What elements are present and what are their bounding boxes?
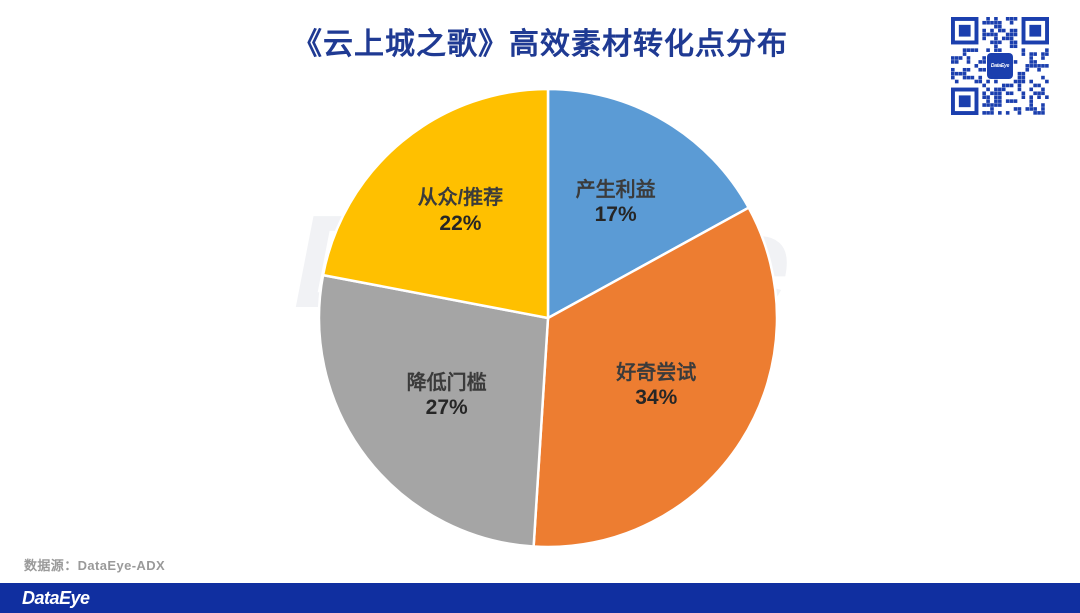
qr-module [990, 91, 994, 95]
qr-module [1018, 80, 1022, 84]
qr-module [1010, 21, 1014, 25]
qr-module [990, 29, 994, 33]
qr-module [1029, 60, 1033, 64]
qr-module [990, 33, 994, 37]
qr-module [1014, 29, 1018, 33]
qr-module [1022, 52, 1026, 56]
qr-module [1041, 107, 1045, 111]
qr-module [1022, 80, 1026, 84]
qr-module [998, 88, 1002, 92]
qr-module [994, 37, 998, 41]
qr-module [1029, 103, 1033, 107]
qr-module [951, 56, 955, 60]
qr-module [971, 48, 975, 52]
qr-module [1014, 80, 1018, 84]
qr-module [1006, 33, 1010, 37]
qr-module [1029, 52, 1033, 56]
qr-module [1018, 76, 1022, 80]
qr-module [990, 111, 994, 115]
qr-module [990, 103, 994, 107]
qr-module [951, 76, 955, 80]
qr-module [975, 48, 979, 52]
qr-module [1014, 17, 1018, 21]
qr-module [994, 88, 998, 92]
qr-module [1025, 64, 1029, 68]
pie-chart-svg [318, 88, 778, 548]
qr-module [1022, 48, 1026, 52]
qr-module [1010, 84, 1014, 88]
qr-module [1029, 95, 1033, 99]
qr-module [982, 37, 986, 41]
qr-module [1041, 52, 1045, 56]
qr-module [1033, 52, 1037, 56]
qr-module [986, 21, 990, 25]
qr-module [982, 60, 986, 64]
slide-canvas: 《云上城之歌》高效素材转化点分布 DataEye 产生利益17%好奇尝试34%降… [0, 0, 1080, 613]
qr-module [1022, 95, 1026, 99]
qr-module [982, 95, 986, 99]
qr-module [1033, 64, 1037, 68]
qr-module [1029, 99, 1033, 103]
qr-module [1014, 107, 1018, 111]
qr-module [967, 60, 971, 64]
qr-module [1014, 44, 1018, 48]
qr-module [1045, 52, 1049, 56]
qr-module [982, 103, 986, 107]
qr-module [994, 91, 998, 95]
qr-module [963, 52, 967, 56]
qr-module [1041, 103, 1045, 107]
qr-module [998, 99, 1002, 103]
pie-chart: 产生利益17%好奇尝试34%降低门槛27%从众/推荐22% [318, 88, 778, 548]
qr-module [990, 21, 994, 25]
qr-module [963, 72, 967, 76]
qr-module [1041, 88, 1045, 92]
qr-module [967, 56, 971, 60]
qr-module [1006, 91, 1010, 95]
qr-module [1006, 17, 1010, 21]
qr-module [1010, 33, 1014, 37]
qr-module [1010, 99, 1014, 103]
qr-module [1018, 72, 1022, 76]
qr-module [986, 95, 990, 99]
qr-module [994, 21, 998, 25]
qr-module [1014, 33, 1018, 37]
qr-module [1029, 80, 1033, 84]
qr-module [1029, 25, 1041, 37]
qr-module [967, 48, 971, 52]
qr-module [1022, 76, 1026, 80]
qr-module [1010, 37, 1014, 41]
qr-module [1014, 41, 1018, 45]
qr-module [955, 72, 959, 76]
qr-module [986, 80, 990, 84]
qr-module [1025, 68, 1029, 72]
qr-module [1022, 72, 1026, 76]
qr-module [955, 80, 959, 84]
qr-module [986, 111, 990, 115]
qr-module [990, 107, 994, 111]
qr-module [978, 76, 982, 80]
qr-module [998, 25, 1002, 29]
qr-module [951, 72, 955, 76]
qr-module [975, 80, 979, 84]
qr-module [1045, 95, 1049, 99]
qr-module [986, 48, 990, 52]
qr-module [982, 21, 986, 25]
qr-module [994, 99, 998, 103]
qr-module [1002, 84, 1006, 88]
qr-module [998, 91, 1002, 95]
qr-module [1006, 37, 1010, 41]
qr-module [1033, 60, 1037, 64]
qr-module [1006, 111, 1010, 115]
qr-module [998, 41, 1002, 45]
footer-bar: DataEye [0, 583, 1080, 613]
qr-module [982, 56, 986, 60]
qr-module [971, 76, 975, 80]
qr-module [963, 76, 967, 80]
qr-module [1041, 91, 1045, 95]
qr-module [1018, 111, 1022, 115]
qr-module [1002, 29, 1006, 33]
qr-module [994, 103, 998, 107]
qr-module [986, 17, 990, 21]
qr-module [1010, 44, 1014, 48]
qr-module [955, 56, 959, 60]
pie-slice-group [319, 89, 777, 547]
qr-module [1002, 88, 1006, 92]
qr-module [978, 68, 982, 72]
qr-module [982, 29, 986, 33]
qr-module [978, 60, 982, 64]
qr-center-logo-label: DataEye [991, 63, 1009, 69]
qr-module [967, 76, 971, 80]
qr-module [1029, 64, 1033, 68]
qr-module [990, 41, 994, 45]
qr-module [1037, 91, 1041, 95]
qr-module [998, 111, 1002, 115]
qr-module [1018, 88, 1022, 92]
qr-module [959, 72, 963, 76]
qr-module [1041, 56, 1045, 60]
qr-module [951, 60, 955, 64]
qr-module [975, 64, 979, 68]
qr-module [994, 33, 998, 37]
qr-module [982, 33, 986, 37]
qr-module [986, 103, 990, 107]
qr-module [1033, 84, 1037, 88]
qr-module [998, 95, 1002, 99]
qr-module [1010, 29, 1014, 33]
qr-code[interactable]: DataEye [951, 17, 1049, 115]
brand-logo: DataEye [22, 588, 90, 609]
qr-module [998, 103, 1002, 107]
qr-module [1014, 60, 1018, 64]
qr-module [994, 41, 998, 45]
qr-module [1045, 48, 1049, 52]
qr-module [1037, 64, 1041, 68]
qr-module [978, 80, 982, 84]
qr-module [959, 56, 963, 60]
qr-module [963, 68, 967, 72]
qr-module [982, 91, 986, 95]
qr-module [1029, 88, 1033, 92]
qr-module [1029, 56, 1033, 60]
qr-module [994, 48, 998, 52]
page-title: 《云上城之歌》高效素材转化点分布 [0, 19, 1080, 63]
qr-module [1010, 91, 1014, 95]
qr-module [959, 95, 971, 107]
qr-module [998, 48, 1002, 52]
qr-module [1041, 111, 1045, 115]
qr-module [982, 84, 986, 88]
qr-module [994, 80, 998, 84]
qr-module [1029, 107, 1033, 111]
qr-module [1006, 99, 1010, 103]
qr-module [967, 68, 971, 72]
qr-module [1018, 107, 1022, 111]
qr-module [986, 88, 990, 92]
qr-module [1045, 80, 1049, 84]
qr-module [959, 25, 971, 37]
qr-module [1041, 76, 1045, 80]
qr-module [1002, 37, 1006, 41]
qr-module [1033, 91, 1037, 95]
qr-module [994, 44, 998, 48]
qr-module [998, 29, 1002, 33]
qr-module [994, 25, 998, 29]
qr-module [1041, 64, 1045, 68]
qr-module [1025, 107, 1029, 111]
pie-slice[interactable] [319, 275, 548, 546]
qr-module [1010, 17, 1014, 21]
qr-module [1037, 68, 1041, 72]
qr-module [982, 111, 986, 115]
qr-module [1018, 84, 1022, 88]
data-source-note: 数据源：DataEye-ADX [24, 555, 165, 574]
qr-module [986, 33, 990, 37]
qr-center-logo: DataEye [987, 53, 1013, 79]
qr-module [955, 60, 959, 64]
qr-module [1033, 107, 1037, 111]
qr-module [1014, 99, 1018, 103]
qr-module [998, 21, 1002, 25]
qr-module [1006, 84, 1010, 88]
qr-module [1033, 111, 1037, 115]
qr-module [963, 48, 967, 52]
qr-module [951, 68, 955, 72]
qr-module [1010, 41, 1014, 45]
qr-module [1045, 64, 1049, 68]
qr-module [1037, 95, 1041, 99]
qr-module [994, 17, 998, 21]
qr-module [1037, 84, 1041, 88]
qr-module [1022, 91, 1026, 95]
qr-module [986, 99, 990, 103]
qr-module [994, 95, 998, 99]
qr-module [982, 68, 986, 72]
qr-module [1037, 111, 1041, 115]
